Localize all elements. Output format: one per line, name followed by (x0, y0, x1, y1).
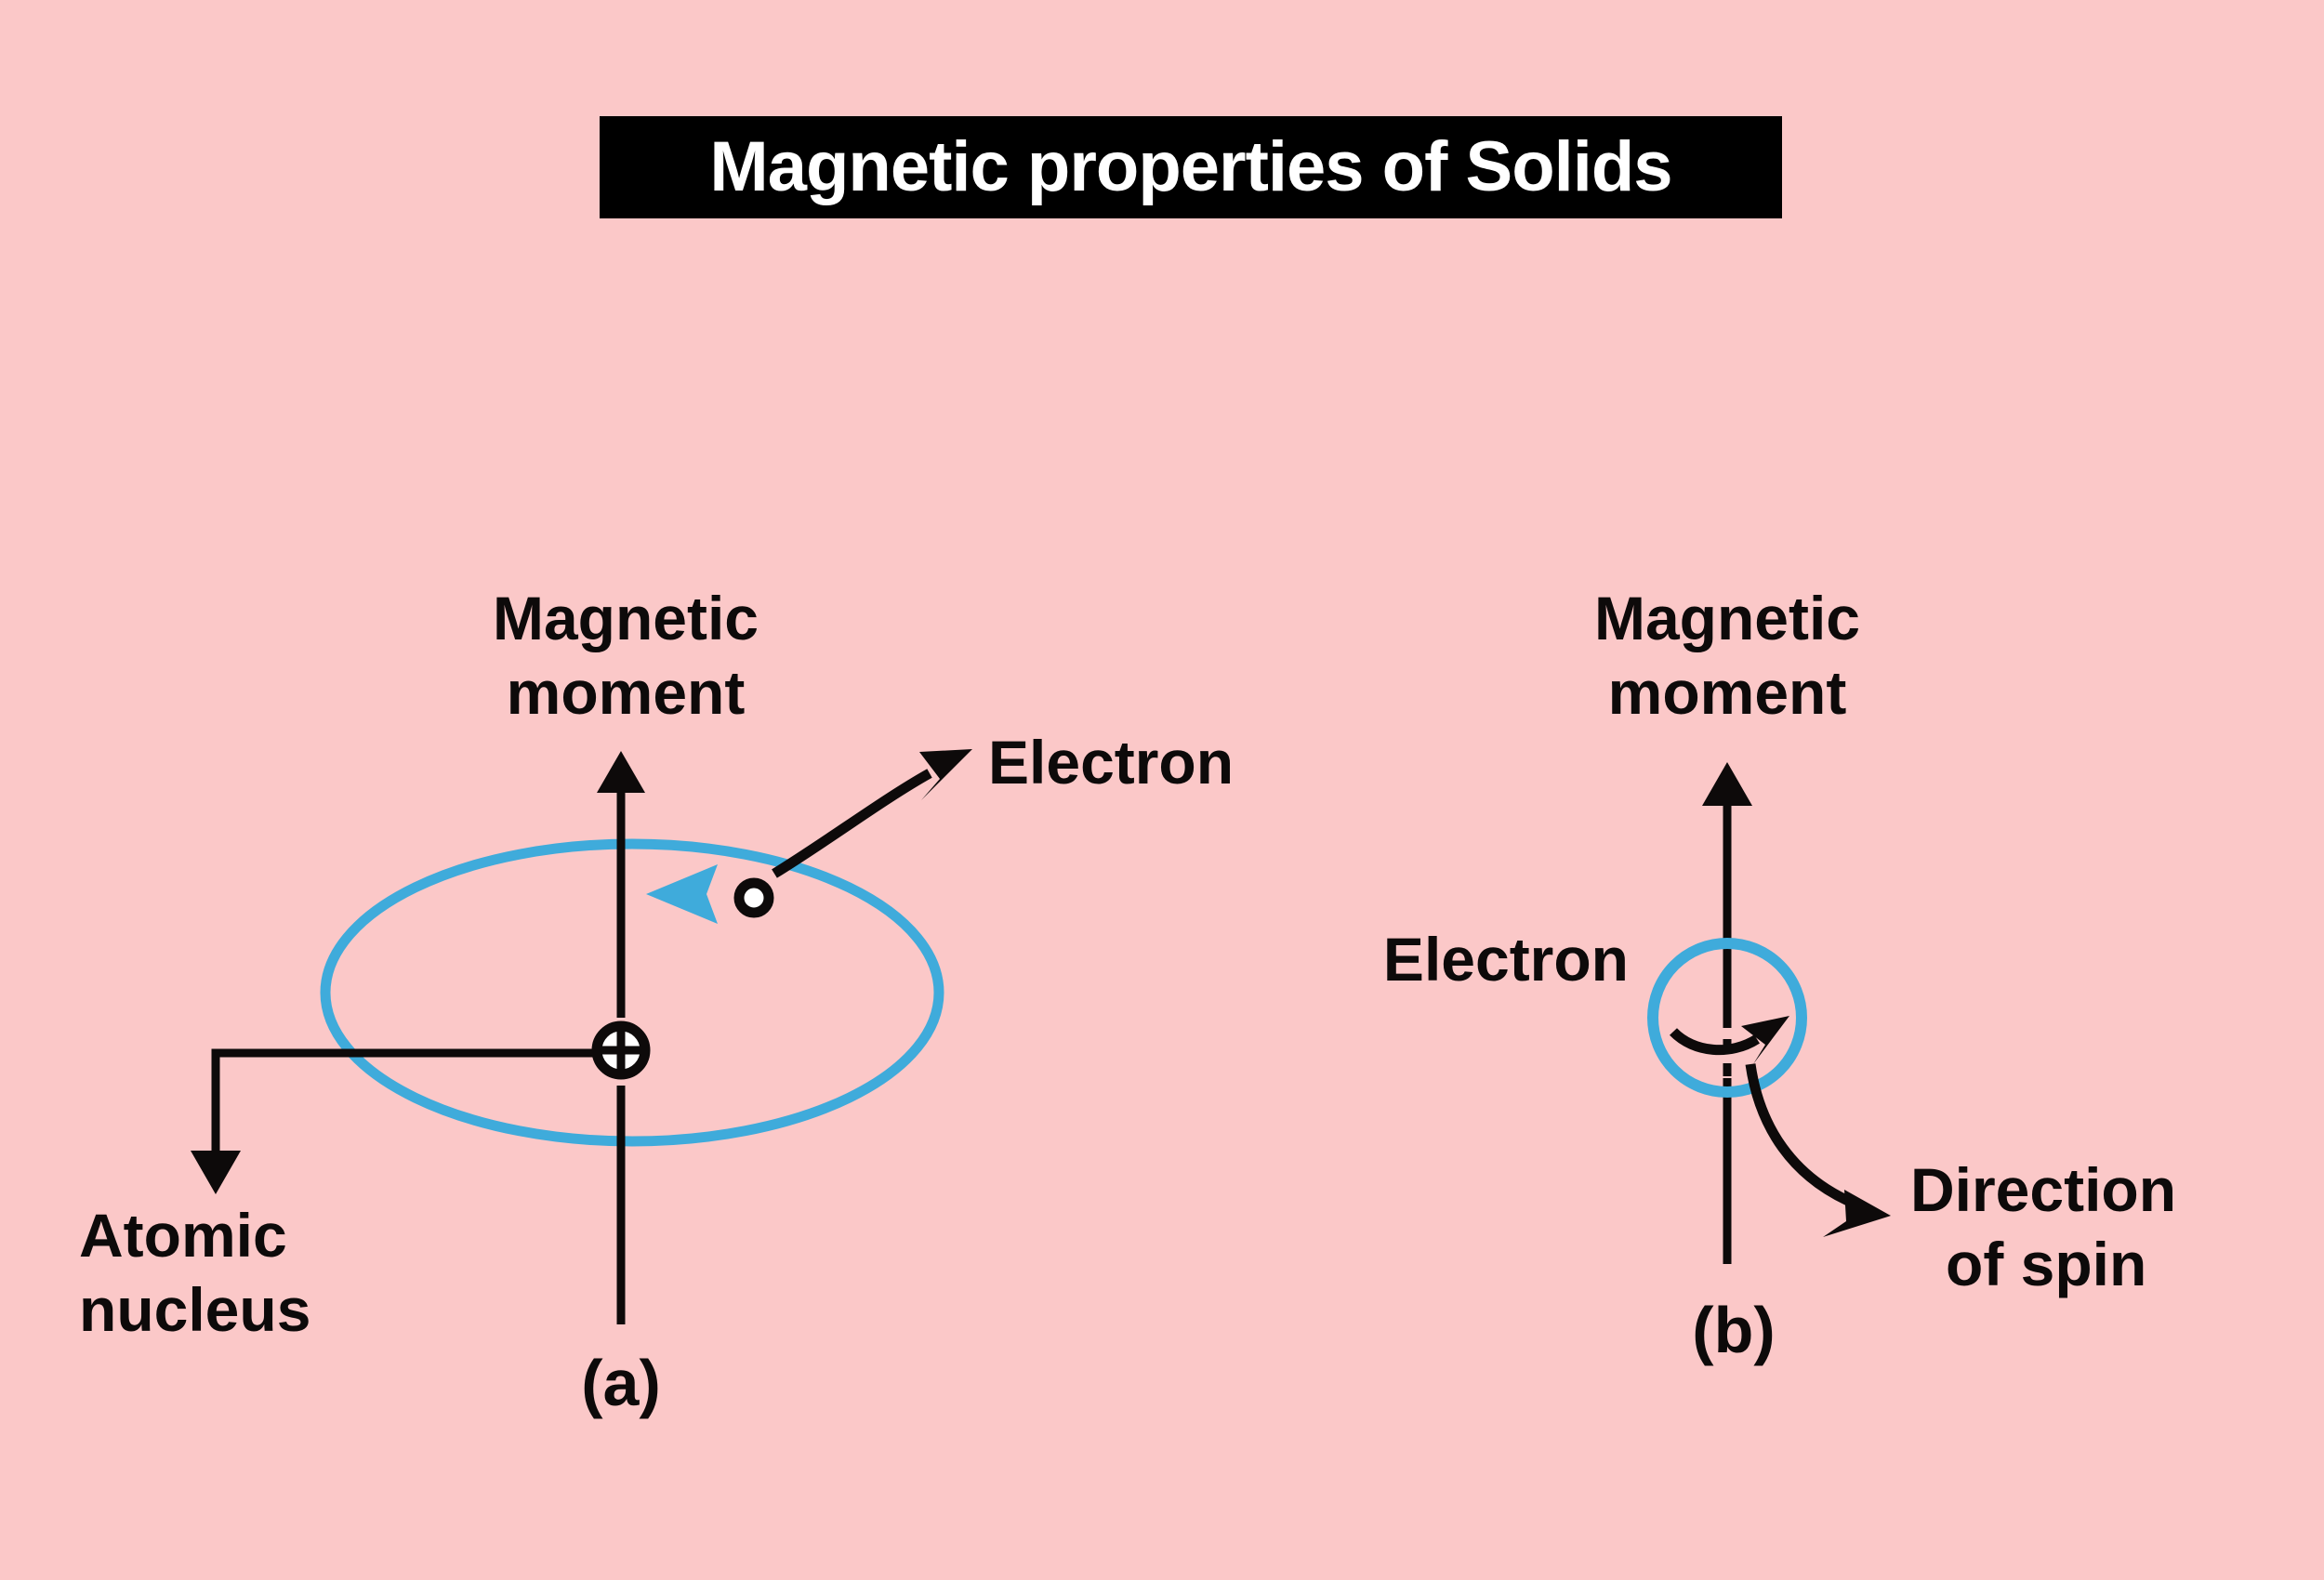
diagram-svg: Magnetic moment Electron Atomic nucleus … (0, 0, 2324, 1580)
elbow-leader-arrowhead (191, 1151, 241, 1194)
electron-label-b: Electron (1383, 925, 1629, 994)
electron-label-a: Electron (988, 728, 1234, 797)
figure-canvas: Magnetic properties of Solids (0, 0, 2324, 1580)
electron-dot-icon (739, 883, 769, 913)
panel-a: Magnetic moment Electron Atomic nucleus … (79, 584, 1234, 1419)
ellipse-orbit-icon (325, 844, 939, 1141)
orbit-direction-arrow-icon (646, 864, 718, 924)
magnetic-moment-label-a-line2: moment (507, 658, 746, 727)
curved-leader-arrow-icon (774, 773, 930, 874)
atomic-nucleus-label-line1: Atomic (79, 1201, 287, 1270)
magnetic-moment-label-b-line1: Magnetic (1594, 584, 1860, 652)
up-arrow-icon (1702, 762, 1752, 806)
direction-of-spin-label-line2: of spin (1946, 1230, 2146, 1298)
magnetic-moment-label-b-line2: moment (1608, 658, 1847, 727)
curved-spin-arrow-icon (1673, 1032, 1757, 1050)
atomic-nucleus-label-line2: nucleus (79, 1275, 310, 1344)
magnetic-moment-label-a-line1: Magnetic (493, 584, 759, 652)
circled-plus-icon (597, 1026, 645, 1074)
direction-of-spin-label-line1: Direction (1910, 1155, 2176, 1224)
panel-caption-b: (b) (1692, 1294, 1775, 1366)
panel-b: Magnetic moment Electron Direction of sp… (1383, 584, 2176, 1366)
panel-caption-a: (a) (581, 1347, 661, 1419)
up-arrow-icon (597, 751, 645, 793)
